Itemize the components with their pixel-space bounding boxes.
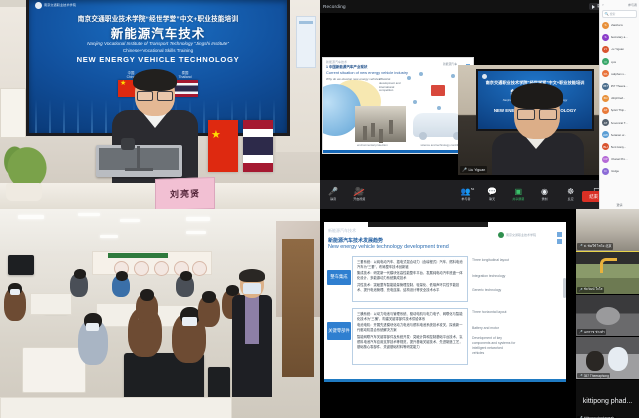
green-banner: [108, 253, 168, 258]
participant-row[interactable]: 357357 Theera...: [600, 80, 639, 92]
participant-name: Liu Yiguan: [611, 47, 625, 51]
bullet: 智能网联汽车关键零部件及系统开发：突破计算和控制基础平台技术，氢燃料电池汽车应用…: [357, 335, 463, 350]
toolbar-chat-label: 聊天: [489, 197, 495, 201]
smog-city-photo: [355, 106, 406, 142]
thumbnail-name-text: 357 Theeraphong: [584, 374, 609, 378]
ceiling-lamp: [186, 217, 210, 221]
slide-corner-note: 新能源汽车: [443, 62, 457, 66]
participant-row[interactable]: DDodge: [600, 165, 639, 177]
panel-lecture-hall-photo: 南京交通职业技术学院 南京交通职业技术学院“经世学堂”中文+职业技能培训 新能源…: [0, 0, 320, 209]
avatar: BH: [602, 143, 609, 150]
car-wheel: [419, 132, 427, 140]
participant-name: shasha lu: [611, 23, 623, 27]
wall-icon: [154, 261, 169, 276]
speaker-name-text: Liu Yiguan: [468, 168, 485, 172]
slide-title-en: New energy vehicle technology developmen…: [328, 244, 449, 250]
participant-thumbnail[interactable]: kittipong phad...🎤kittipong phadungsab: [576, 380, 639, 418]
wall-icon: [192, 261, 207, 276]
network-node: [419, 72, 423, 76]
participant-name: opor: [611, 60, 617, 64]
bullet: 集成技术：研发新一代模块化高性能整车平台、发展纯电动汽车底盘一体化设计、多能源动…: [357, 271, 463, 281]
wall-poster: [296, 16, 316, 68]
bullet: 电池电机：开展先进模块化动力电池与燃料电池系统技术攻关，探索新一代驱动机混合系统…: [357, 323, 463, 333]
face-mask: [10, 289, 20, 295]
face-mask: [86, 323, 99, 331]
bullet: 三垂系统：以纯电动汽车、插电式混合动力（含增程式）汽车、燃料电池汽车为“三垂”，…: [357, 260, 463, 270]
zoom-share-area: 新能源汽车技术 新能源汽车技术发展趋势 New energy vehicle t…: [320, 209, 576, 418]
logo-text: 南京交通职业技术学院: [44, 4, 76, 8]
avatar: 357: [602, 83, 609, 90]
speaker-name-badge: 🎤 Liu Yiguan: [460, 166, 487, 173]
thumbnail-name-badge: 🎤ชัยวัฒน์ ใจใส: [577, 287, 604, 293]
toolbar-reactions-label: 反应: [568, 197, 574, 201]
speaker-hair: [511, 83, 563, 109]
avatar: CP: [602, 156, 609, 163]
instructor-hair: [239, 269, 265, 282]
shared-screen-slide: 新能源汽车技术 1 中国新能源汽车产业现状 Current situation …: [322, 57, 474, 154]
presenter-name-card: 刘亮贤: [155, 177, 215, 209]
share-screen-icon: ▣: [514, 188, 522, 196]
invite-button[interactable]: 邀请: [600, 203, 639, 207]
participant-name: Chanat Pro...: [611, 157, 628, 161]
record-icon: ◉: [541, 188, 548, 196]
panel-zoom-slide-trend: 新能源汽车技术 新能源汽车技术发展趋势 New energy vehicle t…: [320, 209, 639, 418]
thumbnail-name-badge: 🎤357 Theeraphong: [577, 373, 610, 378]
plant-pot: [6, 183, 42, 201]
student-head: [180, 271, 192, 281]
network-node: [437, 106, 441, 110]
screen-logo-icon: [482, 74, 487, 79]
glasses-icon: [517, 109, 557, 118]
network-node: [407, 76, 411, 80]
student-head: [116, 271, 128, 281]
annotation-generic-technology: Generic technology: [472, 288, 516, 293]
instructor-shirt: [245, 296, 259, 344]
participant-thumbnail-strip: 🎤ส. ชัย/ใช้ ไชโย 北京🎤ชัยวัฒน์ ใจใส🎤เอกราช…: [576, 209, 639, 418]
slide-top-bar: [368, 222, 488, 227]
ceiling-lamp: [18, 215, 44, 219]
panel-zoom-meeting: Recording 录制 新能源汽车技术 1 中国新能源汽车产业现状 Curre…: [320, 0, 639, 209]
network-node: [413, 100, 417, 104]
annotation-intelligent-networked: Development of key components and system…: [472, 336, 516, 356]
participant-thumbnail[interactable]: 🎤เอกราช ช่างทำ: [576, 295, 639, 338]
monitor: [8, 255, 34, 275]
participant-row[interactable]: SSecretary a...: [600, 31, 639, 43]
institute-logo: 南京交通职业技术学院: [35, 2, 76, 9]
bullet: 共性技术：突破整车智能能量管理控制、轻量化、低噪声环共性节能技术、提升电池管理、…: [357, 283, 463, 293]
slide-side-dots: [557, 232, 562, 246]
logo-mark-icon: [498, 232, 504, 238]
participant-name: 357 Theera...: [611, 84, 628, 88]
avatar: AW: [602, 131, 609, 138]
slide-tag-vehicle-integration: 整车集成: [327, 270, 351, 285]
student-head: [202, 291, 216, 303]
participant-row[interactable]: BHBunt Hany...: [600, 141, 639, 153]
zoom-stage: 新能源汽车技术 1 中国新能源汽车产业现状 Current situation …: [320, 13, 610, 180]
avatar: LY: [602, 46, 609, 53]
participants-panel-title: 参与者: [628, 3, 637, 7]
slide-footer-bar: [324, 379, 566, 382]
thumbnail-name-badge: 🎤ส. ชัย/ใช้ ไชโย 北京: [577, 243, 613, 250]
participant-row[interactable]: CPChanat Pro...: [600, 153, 639, 165]
participant-row[interactable]: Sshasha lu: [600, 19, 639, 31]
video-camera-off-icon: 🎥: [354, 188, 364, 196]
bullet: 三横系统：以动力电池与管理系统、驱动电机与电力电子、网联化与智能化技术为“三横”…: [357, 312, 463, 322]
avatar: O: [602, 58, 609, 65]
presenter-name-text: 刘亮贤: [156, 186, 214, 201]
avatar: AT: [602, 119, 609, 126]
face-mask: [182, 317, 197, 326]
participant-name: kittipOnwl...: [611, 96, 626, 100]
microphone-icon: [121, 138, 135, 150]
microphone-muted-icon: 🎤: [579, 244, 583, 248]
network-node: [451, 74, 455, 78]
toolbar-video-button[interactable]: 🎥 开启视频: [346, 188, 372, 201]
thumbnail-name-badge: 🎤เอกราช ช่างทำ: [577, 329, 606, 335]
microphone-muted-icon: 🎤: [579, 330, 583, 334]
search-icon: 🔍: [605, 12, 609, 16]
participant-row[interactable]: ATAnoomrat T...: [600, 117, 639, 129]
ceiling-lamp: [100, 235, 118, 238]
participants-search-input[interactable]: 🔍 搜索: [602, 10, 637, 18]
camera-tripod: [125, 146, 153, 182]
toolbar-share-label: 共享屏幕: [512, 197, 524, 201]
slide-logo: 南京交通职业技术学院: [498, 232, 536, 238]
front-desk: [0, 397, 232, 418]
avatar: S: [602, 34, 609, 41]
wall-icon: [134, 261, 149, 276]
ceiling-lamp: [78, 213, 100, 216]
participant-name: Autanan w...: [611, 133, 627, 137]
network-center-block: [431, 85, 445, 96]
participant-name: Anoomrat T...: [611, 121, 628, 125]
chevron-down-icon[interactable]: ˅: [602, 3, 604, 7]
slide-caption-left: environmental protection: [357, 143, 388, 147]
toolbar-record-button[interactable]: ◉ 录制: [531, 188, 557, 201]
toolbar-record-label: 录制: [541, 197, 547, 201]
printer: [22, 347, 86, 393]
recording-indicator-label: Recording: [323, 4, 346, 9]
slide-tag-key-components: 关键零部件: [327, 322, 351, 340]
slide-block-group1: 三垂系统：以纯电动汽车、插电式混合动力（含增程式）汽车、燃料电池汽车为“三垂”，…: [352, 256, 468, 302]
avatar: 6N: [602, 95, 609, 102]
screen-subtitle-en-1: Nanjing Vocational Institute of Transpor…: [29, 41, 287, 46]
slide-right-label: industrial development and international…: [379, 78, 405, 93]
annotation-battery-and-motor: Battery and motor: [472, 326, 516, 331]
desk: [30, 293, 72, 315]
thumbnail-name-large: kittipong phad...: [576, 380, 639, 418]
participant-thumbnail[interactable]: 🎤357 Theeraphong: [576, 337, 639, 380]
logo-mark-icon: [35, 2, 42, 9]
participant-thumbnail[interactable]: 🎤ส. ชัย/ใช้ ไชโย 北京: [576, 209, 639, 252]
reactions-icon: ☸: [567, 188, 574, 196]
avatar: D: [602, 168, 609, 175]
annotation-three-longitudinal-layout: Three longitudinal layout: [472, 258, 516, 263]
participant-name: Apisit Thip...: [611, 108, 627, 112]
participant-name: Secretary a...: [611, 35, 628, 39]
screen-title-cn-large: 新能源汽车技术: [29, 23, 287, 42]
thumbnail-name-text: ส. ชัย/ใช้ ไชโย 北京: [584, 243, 612, 249]
screen-subtitle-en-2: Chinese+Vocational Skills Training: [29, 48, 287, 53]
participant-name: patiphan s...: [611, 72, 627, 76]
wooden-door: [282, 239, 314, 377]
panel-computer-classroom-photo: [0, 209, 320, 418]
scrollbar-thumb[interactable]: [563, 278, 566, 298]
play-icon: [592, 5, 595, 9]
chat-icon: 💬: [487, 188, 497, 196]
slide-footer-bar: [323, 150, 473, 153]
slide-ghost-header: 新能源汽车技术: [328, 228, 356, 234]
toolbar-chat-button[interactable]: 💬 聊天: [479, 188, 505, 201]
participants-icon: 👥54: [461, 188, 471, 196]
ceiling-lamp: [120, 219, 140, 222]
thumbnail-name-text: เอกราช ช่างทำ: [584, 330, 605, 335]
slide-title-cn: 新能源汽车技术发展趋势: [328, 237, 383, 244]
desk-china-flag-icon: [208, 120, 238, 172]
ceiling-lamp: [186, 231, 206, 234]
zoom-toolbar: 🎤 静音 🎥 开启视频 👥54 参与者 💬 聊天 ▣ 共享屏幕 ◉: [320, 180, 610, 209]
slide-block-group2: 三横系统：以动力电池与管理系统、驱动电机与电力电子、网联化与智能化技术为“三横”…: [352, 308, 468, 365]
participant-row[interactable]: AWAutanan w...: [600, 129, 639, 141]
student-head: [140, 289, 154, 301]
participants-panel-header: ˅ 参与者: [600, 0, 639, 9]
microphone-icon: 🎤: [462, 167, 467, 172]
participants-list: Sshasha luSSecretary a...LYLiu YiguanOop…: [600, 19, 639, 177]
avatar: PA: [602, 70, 609, 77]
whiteboard: [0, 88, 26, 138]
toolbar-participants-label: 参与者: [461, 197, 470, 201]
slide-logo-text: 南京交通职业技术学院: [506, 233, 536, 237]
potted-plant: [0, 135, 58, 201]
instructor-figure: [232, 271, 272, 397]
toolbar-mute-label: 静音: [330, 197, 336, 201]
participant-name: Bunt Hany...: [611, 145, 627, 149]
zoom-titlebar: Recording 录制: [320, 0, 610, 13]
toolbar-reactions-button[interactable]: ☸ 反应: [558, 188, 584, 201]
participant-name: Dodge: [611, 169, 620, 173]
participants-panel: ˅ 参与者 🔍 搜索 Sshasha luSSecretary a...LYLi…: [599, 0, 639, 209]
screen-title-cn-small: 南京交通职业技术学院“经世学堂”中文+职业技能培训: [29, 13, 287, 23]
presenter-hair: [133, 69, 177, 91]
microphone-muted-icon: 🎤: [579, 288, 583, 292]
participant-row[interactable]: Oopor: [600, 56, 639, 68]
desk-thailand-flag-icon: [243, 120, 273, 172]
toolbar-participants-button[interactable]: 👥54 参与者: [453, 188, 479, 201]
toolbar-share-screen-button[interactable]: ▣ 共享屏幕: [505, 188, 531, 201]
toolbar-video-label: 开启视频: [353, 197, 365, 201]
participant-row[interactable]: LYLiu Yiguan: [600, 43, 639, 55]
image-collage: 南京交通职业技术学院 南京交通职业技术学院“经世学堂”中文+职业技能培训 新能源…: [0, 0, 639, 418]
participant-row[interactable]: 6NkittipOnwl...: [600, 92, 639, 104]
annotation-three-horizontal-layout: Three horizontal layout: [472, 310, 516, 315]
thumbnail-name-text: ชัยวัฒน์ ใจใส: [584, 287, 603, 292]
speaker-video-tile[interactable]: 南京交通职业技术学院“经世学堂”中文+职业技能培训 新能源汽车技术 Nanjin…: [458, 65, 610, 175]
screen-title-en: NEW ENERGY VEHICLE TECHNOLOGY: [29, 55, 287, 64]
shared-slide: 新能源汽车技术 新能源汽车技术发展趋势 New energy vehicle t…: [324, 222, 566, 382]
participant-thumbnail[interactable]: 🎤ชัยวัฒน์ ใจใส: [576, 252, 639, 295]
glasses-icon: [137, 91, 173, 99]
avatar: AT: [602, 107, 609, 114]
student-head: [74, 269, 86, 279]
face-mask: [243, 283, 261, 294]
desk-flags: [208, 120, 273, 172]
participant-row[interactable]: PApatiphan s...: [600, 68, 639, 80]
toolbar-mute-button[interactable]: 🎤 静音: [320, 188, 346, 201]
classroom-ceiling: [0, 209, 320, 251]
microphone-muted-icon: 🎤: [579, 374, 583, 378]
search-placeholder: 搜索: [610, 12, 616, 16]
microphone-icon: 🎤: [328, 188, 338, 196]
avatar: S: [602, 22, 609, 29]
participant-row[interactable]: ATApisit Thip...: [600, 104, 639, 116]
annotation-integration-technology: Integration technology: [472, 274, 516, 279]
participants-count: 54: [471, 188, 474, 191]
